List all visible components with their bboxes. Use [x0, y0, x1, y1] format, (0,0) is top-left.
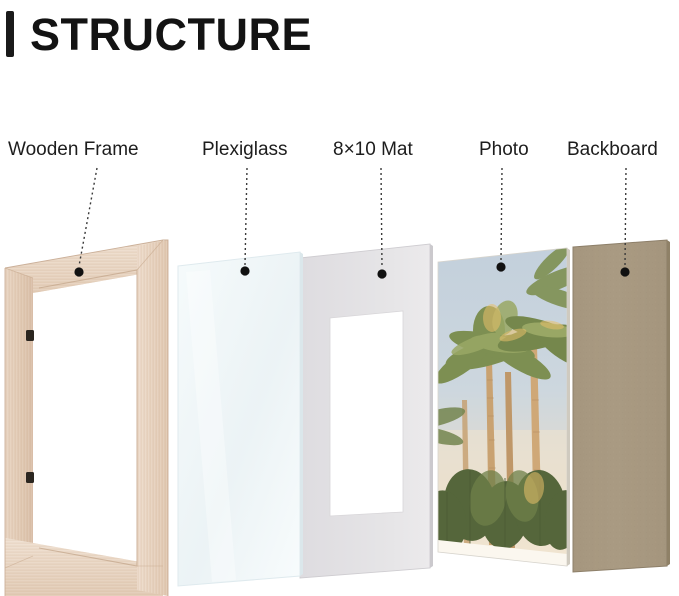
frame-clip-lower: [26, 472, 34, 483]
part-plexiglass: [178, 252, 303, 586]
frame-clip-upper: [26, 330, 34, 341]
leader-dot-backboard: [620, 267, 629, 276]
exploded-view-svg: [0, 0, 679, 596]
leader-plexiglass: [245, 168, 247, 265]
leader-dot-mat: [377, 269, 386, 278]
leader-dot-wooden-frame: [74, 267, 83, 276]
leader-wooden-frame: [79, 168, 97, 266]
leader-photo: [501, 168, 502, 261]
leader-dot-plexiglass: [240, 266, 249, 275]
part-backboard: [573, 240, 670, 572]
part-wooden-frame: [5, 240, 168, 596]
leader-dot-photo: [496, 262, 505, 271]
diagram-stage: STRUCTURE Wooden Frame Plexiglass 8×10 M…: [0, 0, 679, 596]
part-mat: [300, 244, 433, 578]
part-photo: [405, 240, 593, 570]
